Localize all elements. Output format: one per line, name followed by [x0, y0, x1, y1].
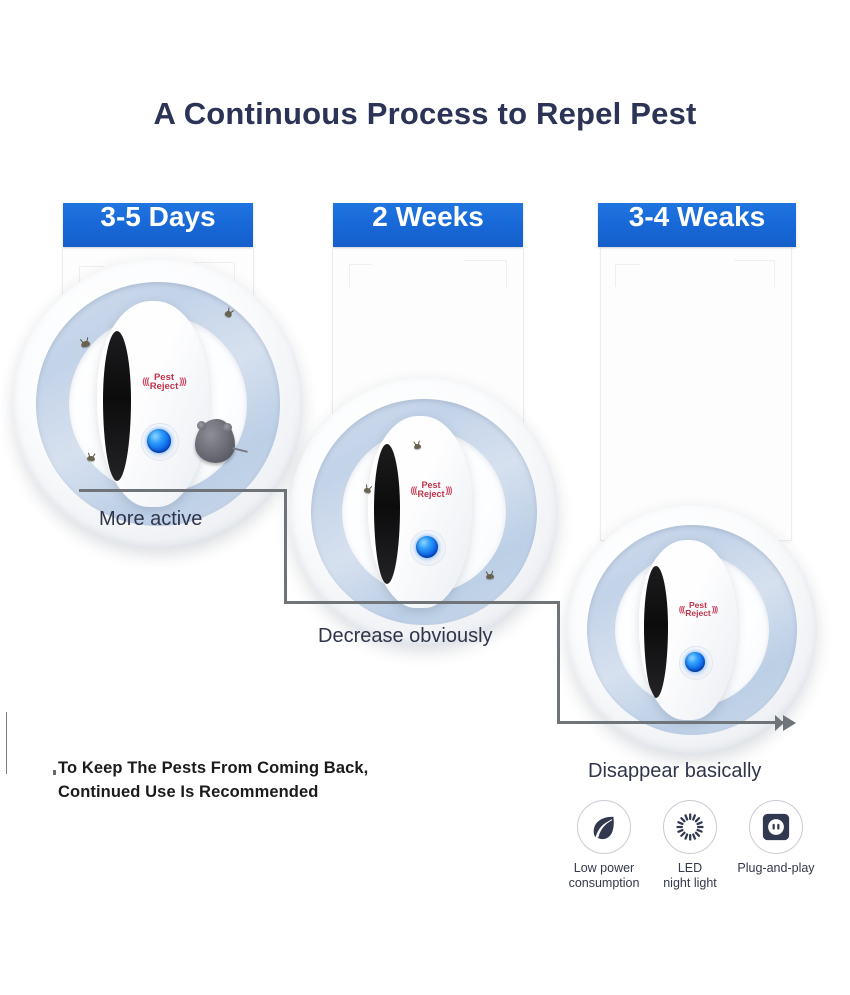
sunburst-led-icon [675, 812, 705, 842]
footer-note-line1: To Keep The Pests From Coming Back, [58, 757, 368, 781]
footer-note-line2: Continued Use Is Recommended [58, 781, 368, 805]
logo-wave-right-2: ))) [446, 486, 452, 495]
connector-1-vertical [284, 489, 287, 604]
device-vent-1 [103, 331, 131, 481]
logo-line-1b: Reject [150, 381, 179, 392]
feature-led-night-light: LED night light [651, 800, 729, 892]
stage-banner-2: 2 Weeks [333, 203, 523, 247]
feature-icon-circle-1 [577, 800, 631, 854]
feature-icon-circle-3 [749, 800, 803, 854]
connector-2-horizontal [557, 721, 785, 724]
feature-plug-and-play: Plug-and-play [737, 800, 815, 876]
mouse-ear-left [197, 421, 206, 430]
feature-label-2: LED night light [663, 861, 717, 892]
stage-banner-3: 3-4 Weaks [598, 203, 796, 247]
device-stage-1: ((( Pest Reject ))) [13, 259, 303, 549]
logo-wave-left-3: ((( [679, 605, 685, 614]
logo-wave-left-2: ((( [410, 486, 416, 495]
caption-stage-3: Disappear basically [588, 760, 761, 783]
feature-list: Low power consumption [565, 800, 815, 892]
page-title: A Continuous Process to Repel Pest [0, 96, 850, 132]
leaf-icon [589, 812, 619, 842]
device-body-1: ((( Pest Reject ))) [97, 301, 209, 507]
footer-note: To Keep The Pests From Coming Back, Cont… [58, 757, 368, 805]
feature-label-1b: consumption [569, 876, 640, 890]
stage-banner-label-2: 2 Weeks [333, 203, 523, 231]
stage-banner-label-3: 3-4 Weaks [598, 203, 796, 231]
wall-plate-3 [600, 248, 792, 541]
insect-1c [87, 455, 96, 461]
feature-label-2b: night light [663, 876, 717, 890]
pest-reject-logo-1: ((( Pest Reject ))) [123, 367, 205, 397]
logo-line-2b: Reject [417, 489, 444, 499]
led-indicator-3 [685, 652, 705, 672]
feature-label-3a: Plug-and-play [737, 861, 814, 875]
flow-arrow-head [783, 715, 796, 731]
mouse-ear-right [223, 423, 232, 432]
feature-label-3: Plug-and-play [737, 861, 814, 876]
logo-text-3: Pest Reject [685, 601, 711, 618]
feature-label-2a: LED [678, 861, 702, 875]
feature-icon-circle-2 [663, 800, 717, 854]
infographic-canvas: A Continuous Process to Repel Pest 3-5 D… [0, 0, 850, 995]
device-stage-2: ((( Pest Reject ))) [290, 378, 558, 646]
feature-label-1: Low power consumption [569, 861, 640, 892]
pest-reject-logo-3: ((( Pest Reject ))) [661, 596, 735, 622]
edge-hairline [6, 712, 7, 774]
mouse-1 [195, 419, 235, 463]
flow-arrow-head-2 [775, 715, 784, 731]
logo-wave-right-3: ))) [712, 605, 718, 614]
logo-wave-right-1: ))) [179, 377, 186, 387]
stage-banner-1: 3-5 Days [63, 203, 253, 247]
device-vent-2 [374, 444, 400, 584]
connector-2-vertical [557, 601, 560, 722]
connector-1-horizontal-2 [284, 601, 560, 604]
feature-label-1a: Low power [574, 861, 634, 875]
logo-text-1: Pest Reject [150, 373, 179, 392]
led-indicator-1 [147, 429, 171, 453]
logo-text-2: Pest Reject [417, 481, 444, 499]
pest-reject-logo-2: ((( Pest Reject ))) [392, 476, 470, 504]
caption-stage-2: Decrease obviously [318, 625, 493, 648]
feature-low-power: Low power consumption [565, 800, 643, 892]
connector-1-horizontal [79, 489, 287, 492]
power-socket-icon [761, 812, 791, 842]
caption-stage-1: More active [99, 508, 202, 531]
logo-line-3b: Reject [685, 608, 711, 618]
edge-dot [53, 770, 56, 775]
led-indicator-2 [416, 536, 438, 558]
stage-banner-label-1: 3-5 Days [63, 203, 253, 231]
device-body-3: ((( Pest Reject ))) [639, 540, 737, 720]
logo-wave-left-1: ((( [142, 377, 149, 387]
device-vent-3 [644, 566, 668, 698]
